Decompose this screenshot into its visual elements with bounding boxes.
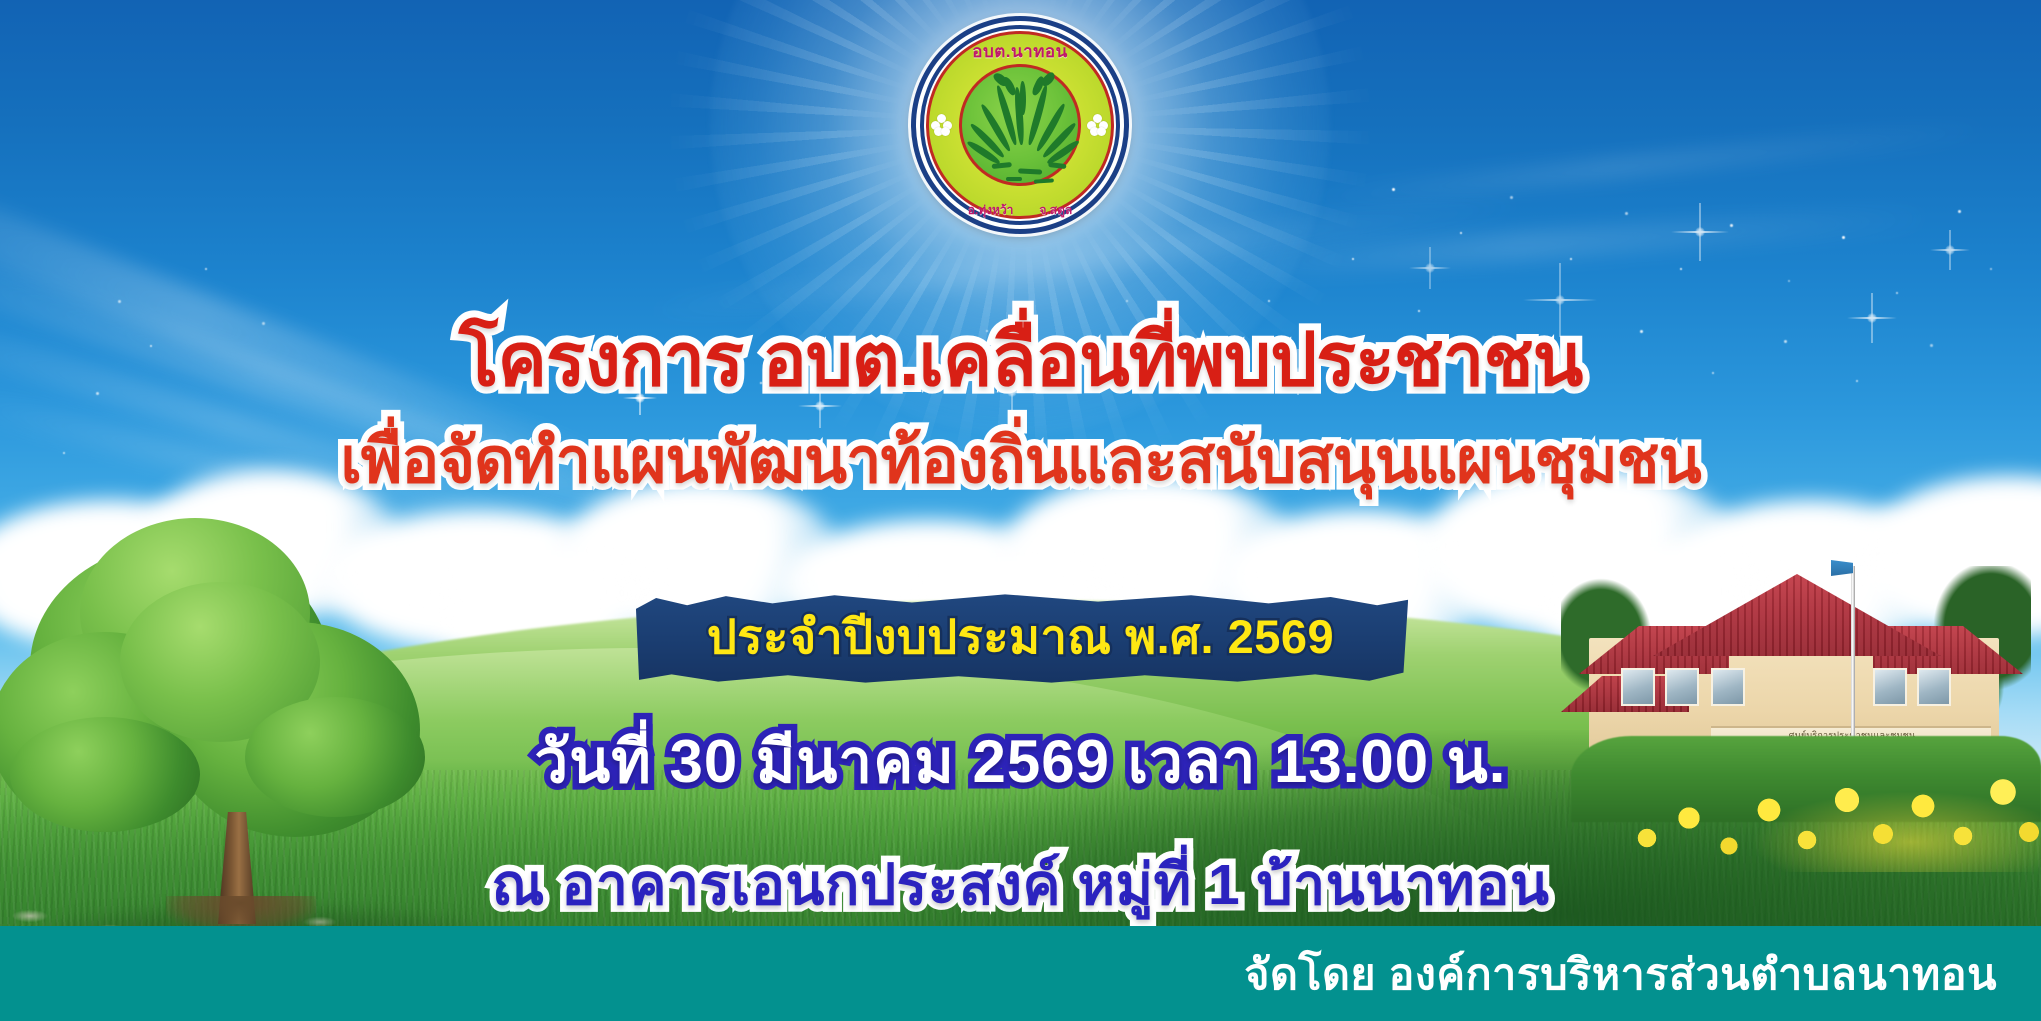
banner-text-content: โครงการ อบต.เคลื่อนที่พบประชาชน เพื่อจัด… [0, 0, 2041, 1021]
venue-text: ณ อาคารเอนกประสงค์ หมู่ที่ 1 บ้านนาทอน [0, 840, 2041, 930]
headline-text: โครงการ อบต.เคลื่อนที่พบประชาชน [0, 300, 2041, 418]
event-banner: ศูนย์บริการประชาชนและชุมชน องค์การบริหาร… [0, 0, 2041, 1021]
organizer-text: จัดโดย องค์การบริหารส่วนตำบลนาทอน [1244, 940, 1997, 1008]
fiscal-year-text: ประจำปีงบประมาณ พ.ศ. 2569 [707, 599, 1334, 674]
subheadline-text: เพื่อจัดทำแผนพัฒนาท้องถิ่นและสนับสนุนแผน… [0, 410, 2041, 510]
organizer-bar: จัดโดย องค์การบริหารส่วนตำบลนาทอน [0, 926, 2041, 1021]
date-time-text: วันที่ 30 มีนาคม 2569 เวลา 13.00 น. [0, 714, 2041, 809]
fiscal-year-ribbon: ประจำปีงบประมาณ พ.ศ. 2569 [633, 593, 1408, 684]
fiscal-year-ribbon-wrap: ประจำปีงบประมาณ พ.ศ. 2569 [0, 586, 2041, 690]
